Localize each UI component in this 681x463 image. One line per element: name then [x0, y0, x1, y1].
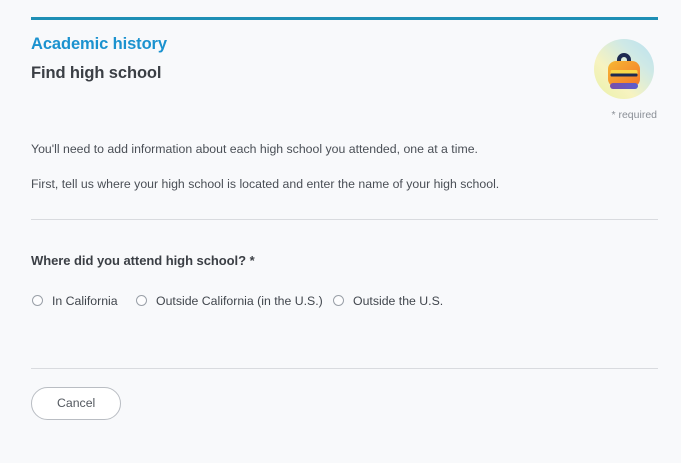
radio-option-label: Outside California (in the U.S.): [156, 294, 323, 308]
intro-paragraph-2: First, tell us where your high school is…: [31, 176, 658, 193]
intro-text: You'll need to add information about eac…: [31, 141, 658, 193]
radio-circle-icon[interactable]: [32, 295, 43, 306]
form-actions: Cancel: [31, 387, 658, 421]
page-root: Academic history Find high school: [0, 0, 681, 463]
divider-bottom: [31, 368, 658, 369]
divider-top: [31, 219, 658, 220]
form-content: Academic history Find high school: [31, 0, 658, 420]
radio-option-outside-california[interactable]: Outside California (in the U.S.): [136, 291, 323, 311]
required-note: * required: [31, 109, 658, 121]
radio-group: In California Outside California (in the…: [31, 291, 658, 311]
radio-circle-icon[interactable]: [333, 295, 344, 306]
page-title: Find high school: [31, 63, 658, 84]
question-label: Where did you attend high school? *: [31, 253, 658, 268]
backpack-icon: [590, 35, 658, 103]
cancel-button[interactable]: Cancel: [31, 387, 121, 421]
radio-option-label: Outside the U.S.: [353, 294, 443, 308]
radio-circle-icon[interactable]: [136, 295, 147, 306]
page-header: Academic history Find high school: [31, 20, 658, 83]
radio-option-outside-us[interactable]: Outside the U.S.: [333, 291, 443, 311]
section-eyebrow: Academic history: [31, 34, 658, 55]
intro-paragraph-1: You'll need to add information about eac…: [31, 141, 658, 158]
radio-option-in-california[interactable]: In California: [32, 291, 118, 311]
radio-option-label: In California: [52, 294, 118, 308]
